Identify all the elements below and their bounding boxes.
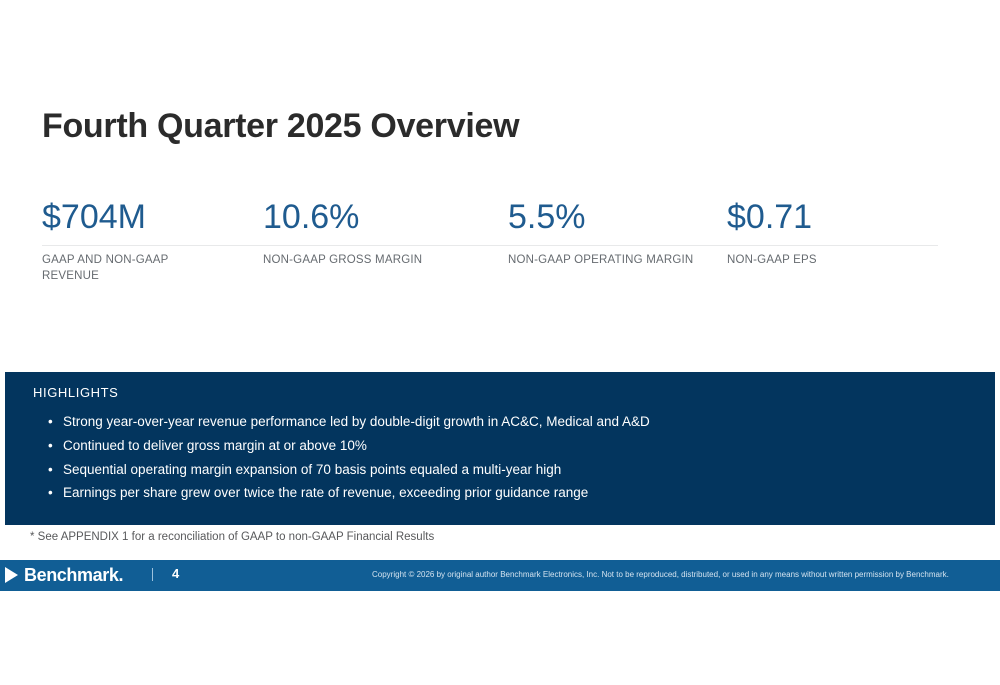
list-item: • Sequential operating margin expansion … — [45, 458, 975, 482]
metric-eps: $0.71 NON-GAAP EPS — [727, 196, 812, 238]
copyright-text: Copyright © 2026 by original author Benc… — [372, 570, 949, 579]
metric-operating-margin: 5.5% NON-GAAP OPERATING MARGIN — [508, 196, 586, 238]
footnote: * See APPENDIX 1 for a reconciliation of… — [30, 531, 434, 543]
metric-value: $704M — [42, 196, 146, 238]
logo-wordmark: Benchmark. — [24, 566, 123, 584]
footer-divider — [152, 568, 153, 581]
bullet-icon: • — [48, 434, 53, 458]
metric-value: 10.6% — [263, 196, 359, 238]
list-item-text: Sequential operating margin expansion of… — [63, 462, 561, 477]
metric-label: GAAP AND NON-GAAP REVENUE — [42, 252, 192, 284]
metric-gross-margin: 10.6% NON-GAAP GROSS MARGIN — [263, 196, 359, 238]
bullet-icon: • — [48, 410, 53, 434]
metric-label: NON-GAAP OPERATING MARGIN — [508, 252, 698, 268]
bullet-icon: • — [48, 458, 53, 482]
metric-value: 5.5% — [508, 196, 586, 238]
page-title: Fourth Quarter 2025 Overview — [42, 107, 519, 146]
metric-value: $0.71 — [727, 196, 812, 238]
page-number: 4 — [172, 566, 179, 581]
highlights-list: • Strong year-over-year revenue performa… — [45, 410, 975, 505]
benchmark-logo: Benchmark. — [5, 566, 123, 584]
list-item: • Continued to deliver gross margin at o… — [45, 434, 975, 458]
list-item-text: Strong year-over-year revenue performanc… — [63, 414, 650, 429]
highlights-heading: HIGHLIGHTS — [33, 385, 118, 400]
highlights-panel: HIGHLIGHTS • Strong year-over-year reven… — [5, 372, 995, 525]
triangle-right-icon — [5, 567, 18, 583]
metric-revenue: $704M GAAP AND NON-GAAP REVENUE — [42, 196, 146, 238]
metrics-divider — [42, 245, 938, 246]
metric-label: NON-GAAP GROSS MARGIN — [263, 252, 433, 268]
list-item: • Earnings per share grew over twice the… — [45, 481, 975, 505]
bullet-icon: • — [48, 481, 53, 505]
metric-label: NON-GAAP EPS — [727, 252, 917, 268]
list-item-text: Continued to deliver gross margin at or … — [63, 438, 367, 453]
metrics-row: $704M GAAP AND NON-GAAP REVENUE 10.6% NO… — [0, 196, 1000, 296]
list-item: • Strong year-over-year revenue performa… — [45, 410, 975, 434]
slide: Fourth Quarter 2025 Overview $704M GAAP … — [0, 0, 1000, 685]
list-item-text: Earnings per share grew over twice the r… — [63, 485, 588, 500]
